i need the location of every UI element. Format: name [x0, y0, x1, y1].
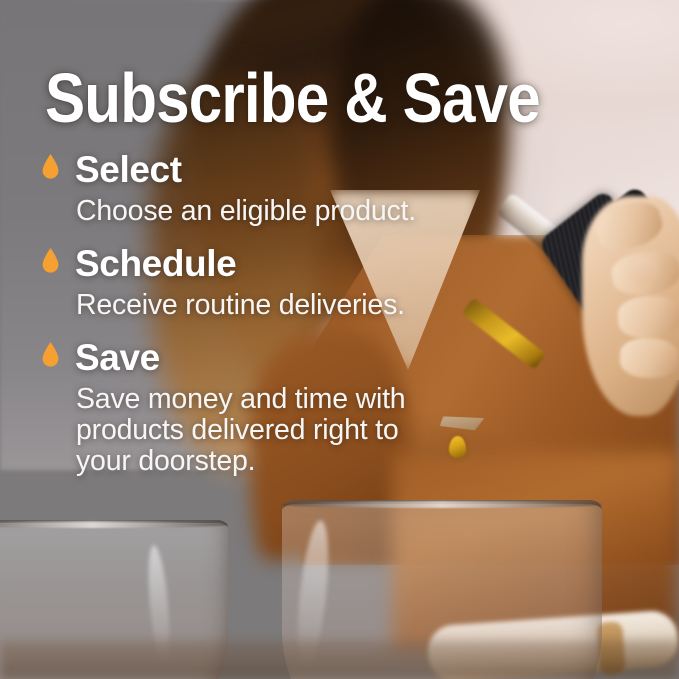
step-body: Choose an eligible product. [76, 196, 416, 227]
step-body: Save money and time with products delive… [76, 384, 405, 477]
step-body-line: Receive routine deliveries. [76, 290, 405, 321]
text-overlay: Subscribe & Save Select Choose an eligib… [0, 0, 679, 679]
page-title: Subscribe & Save [45, 63, 540, 133]
step-heading: Schedule [75, 244, 236, 284]
droplet-icon [42, 154, 59, 179]
promo-banner: Subscribe & Save Select Choose an eligib… [0, 0, 679, 679]
droplet-icon [42, 342, 59, 367]
step-body-line: Save money and time with [76, 384, 405, 415]
step-body: Receive routine deliveries. [76, 290, 405, 321]
step-heading: Select [75, 150, 182, 190]
step-body-line: products delivered right to [76, 415, 405, 446]
droplet-icon [42, 248, 59, 273]
step-heading: Save [75, 338, 160, 378]
step-body-line: Choose an eligible product. [76, 196, 416, 227]
step-body-line: your doorstep. [76, 446, 405, 477]
